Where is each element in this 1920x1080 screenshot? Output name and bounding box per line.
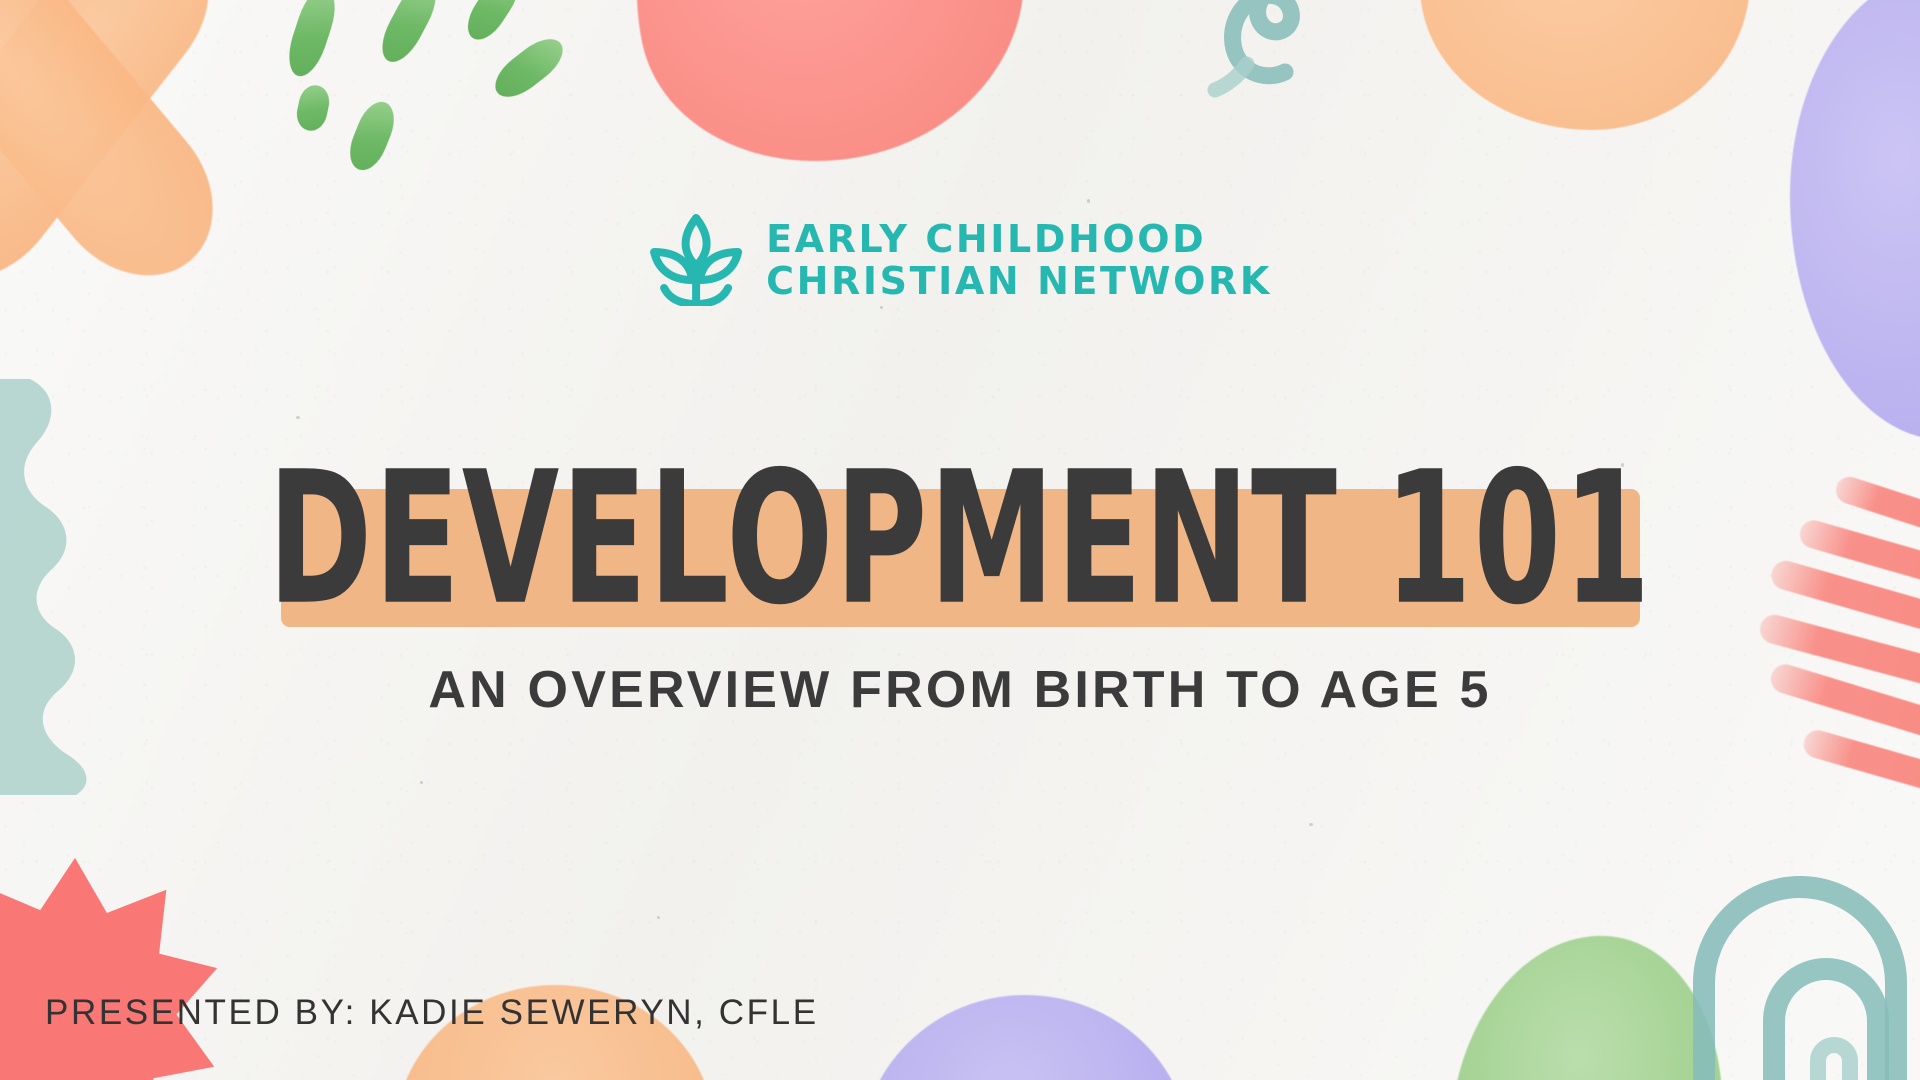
- green-seed-dash-decoration: [487, 30, 571, 106]
- green-seed-dash-decoration: [294, 82, 333, 133]
- page-title: DEVELOPMENT 101: [154, 448, 1767, 631]
- red-starburst-bottom-left-decoration: [0, 855, 220, 1080]
- coral-blob-top-center-decoration: [594, 0, 1057, 196]
- green-seed-dash-decoration: [373, 0, 444, 69]
- paper-speck: [296, 416, 300, 419]
- sage-wave-left-decoration: [0, 375, 135, 795]
- paper-speck: [1087, 199, 1090, 203]
- coral-diagonal-stroke-decoration: [1832, 473, 1920, 557]
- presenter-credit: PRESENTED BY: KADIE SEWERYN, CFLE: [45, 993, 819, 1033]
- teal-arches-bottom-right-decoration: [1690, 845, 1920, 1080]
- paper-speck: [657, 916, 660, 919]
- logo-wordmark: EARLY CHILDHOOD CHRISTIAN NETWORK: [766, 219, 1272, 301]
- slide-subtitle: AN OVERVIEW FROM BIRTH TO AGE 5: [0, 660, 1920, 720]
- green-seed-dash-decoration: [459, 0, 526, 47]
- green-blob-bottom-right-decoration: [1440, 922, 1741, 1080]
- paper-speck: [420, 781, 423, 784]
- coral-diagonal-stroke-decoration: [1768, 557, 1920, 655]
- orange-cross-top-left-decoration: [0, 0, 205, 310]
- lotus-plant-icon: [648, 210, 744, 311]
- teal-squiggle-decoration: [1125, 0, 1325, 130]
- organization-logo: EARLY CHILDHOOD CHRISTIAN NETWORK: [648, 210, 1272, 311]
- purple-blob-bottom-center-decoration: [860, 995, 1190, 1080]
- paper-speck: [1309, 823, 1313, 826]
- logo-line-1: EARLY CHILDHOOD: [766, 219, 1272, 260]
- orange-circle-top-right-decoration: [1420, 0, 1750, 130]
- coral-diagonal-stroke-decoration: [1800, 727, 1920, 815]
- green-seed-dash-decoration: [343, 96, 401, 175]
- logo-line-2: CHRISTIAN NETWORK: [766, 261, 1272, 302]
- coral-diagonal-stroke-decoration: [1797, 517, 1920, 607]
- presentation-slide: EARLY CHILDHOOD CHRISTIAN NETWORK DEVELO…: [0, 0, 1920, 1080]
- purple-oval-right-decoration: [1790, 0, 1920, 440]
- green-seed-dash-decoration: [282, 0, 343, 81]
